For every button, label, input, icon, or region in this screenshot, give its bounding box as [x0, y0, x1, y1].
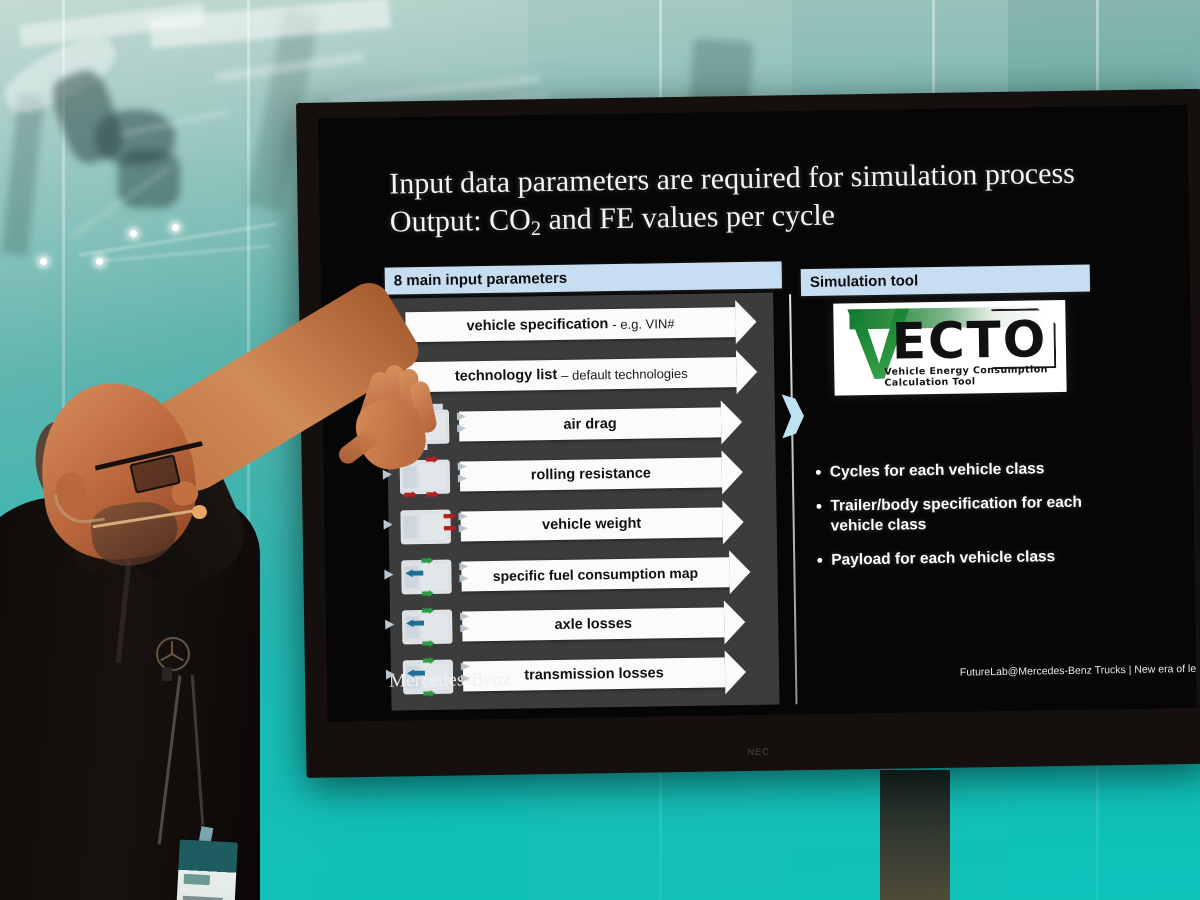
parameter-row: technology list – default technologies [386, 349, 775, 401]
parameter-row: specific fuel consumption map [389, 548, 778, 600]
photo-scene: NEC Input data parameters are required f… [0, 0, 1200, 900]
parameter-sublabel: – default technologies [561, 365, 688, 382]
mercedes-star-icon [156, 637, 190, 671]
truck-schematic-icon [392, 504, 459, 549]
bullet-dot-icon [817, 558, 822, 563]
parameter-arrow: vehicle weight [460, 507, 722, 541]
parameter-label: vehicle weight [542, 516, 641, 534]
parameter-label: specific fuel consumption map [493, 565, 699, 584]
mic-transmitter-pack [162, 667, 172, 681]
presenter [0, 375, 340, 900]
slide-title-line2-pre: Output: CO [390, 203, 531, 238]
parameter-label: technology list [455, 367, 558, 385]
list-item: Payload for each vehicle class [817, 546, 1117, 570]
parameter-label: vehicle specification [466, 316, 608, 334]
parameter-arrow: vehicle specification - e.g. VIN# [405, 307, 735, 342]
parameter-arrow: rolling resistance [460, 457, 722, 491]
column-divider [789, 294, 797, 704]
slide-title: Input data parameters are required for s… [389, 153, 1190, 245]
parameter-label: transmission losses [524, 665, 664, 683]
event-badge [176, 840, 238, 900]
list-item: Cycles for each vehicle class [816, 458, 1116, 482]
parameter-arrow: axle losses [462, 607, 724, 641]
monitor-brand-label: NEC [748, 747, 770, 757]
right-column-header: Simulation tool [801, 265, 1090, 297]
monitor-stand [880, 770, 950, 900]
parameter-row: air drag [387, 399, 776, 451]
presentation-slide: Input data parameters are required for s… [318, 105, 1196, 722]
co2-subscript: 2 [531, 218, 542, 240]
bullet-dot-icon [816, 504, 821, 509]
parameter-arrow: specific fuel consumption map [461, 557, 729, 591]
parameter-label: axle losses [554, 616, 632, 633]
parameter-row: vehicle weight [388, 499, 777, 551]
parameter-arrow: air drag [459, 407, 721, 441]
slide-title-line2-post: and FE values per cycle [541, 198, 836, 236]
parameter-sublabel: - e.g. VIN# [612, 316, 674, 332]
slide-footer-meta: FutureLab@Mercedes-Benz Trucks | New era… [960, 663, 1197, 679]
simulation-tool-bullets: Cycles for each vehicle class Trailer/bo… [816, 458, 1118, 585]
parameter-row: axle losses [390, 598, 779, 650]
bullet-dot-icon [816, 470, 821, 475]
parameter-label: air drag [563, 416, 616, 433]
vecto-logo-tagline: Vehicle Energy Consumption Calculation T… [884, 364, 1066, 389]
headset-mic-tip-icon [192, 505, 207, 519]
vecto-logo: ECTO Vehicle Energy Consumption Calculat… [833, 300, 1066, 396]
presenter-hand [352, 365, 434, 477]
parameter-arrow: technology list – default technologies [406, 357, 736, 392]
truck-schematic-icon [394, 604, 461, 649]
bullet-text: Cycles for each vehicle class [830, 459, 1045, 482]
parameter-row: vehicle specification - e.g. VIN# [385, 299, 774, 351]
left-column-header: 8 main input parameters [385, 261, 782, 294]
slide-footer-brand: Mercedes-Benz [389, 669, 511, 693]
parameter-label: rolling resistance [531, 465, 651, 483]
list-item: Trailer/body specification for each vehi… [816, 493, 1117, 536]
chevron-marker-icon [782, 394, 805, 438]
screen-area: Input data parameters are required for s… [318, 105, 1196, 722]
truck-schematic-icon [393, 554, 460, 599]
parameter-row: rolling resistance [388, 449, 777, 501]
bullet-text: Trailer/body specification for each vehi… [830, 493, 1117, 536]
bullet-text: Payload for each vehicle class [831, 547, 1055, 570]
vecto-logo-wordmark: ECTO [891, 314, 1047, 366]
